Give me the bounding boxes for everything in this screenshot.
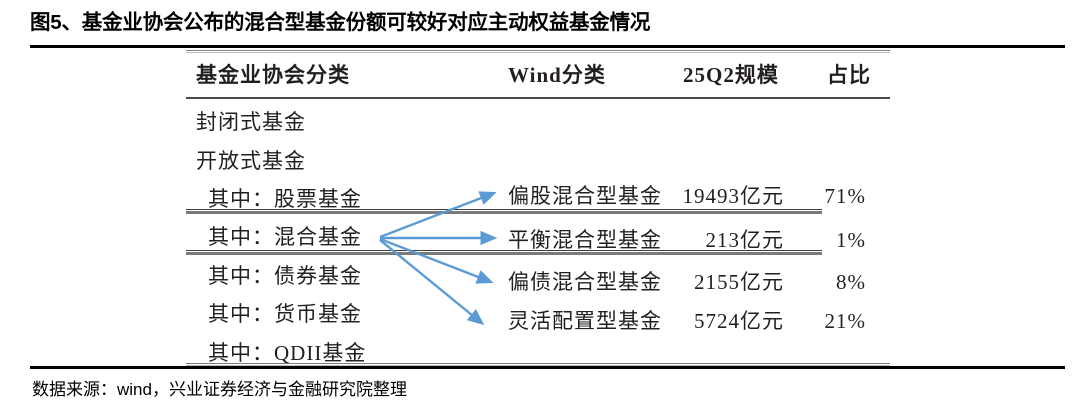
- wind-row-size-1: 213亿元: [626, 226, 784, 254]
- table-row-assoc-1: 开放式基金: [196, 147, 306, 175]
- table-row-assoc-2: 其中：股票基金: [208, 185, 362, 213]
- table-row-assoc-6: 其中：QDII基金: [208, 339, 366, 367]
- source-note: 数据来源：wind，兴业证券经济与金融研究院整理: [32, 378, 407, 402]
- column-header-assoc-class: 基金业协会分类: [196, 61, 350, 89]
- page-title: 图5、基金业协会公布的混合型基金份额可较好对应主动权益基金情况: [30, 8, 1060, 38]
- figure-container: 图5、基金业协会公布的混合型基金份额可较好对应主动权益基金情况 基金业协会分类 …: [0, 0, 1080, 412]
- wind-row-size-0: 19493亿元: [626, 182, 784, 210]
- table-row-assoc-5: 其中：货币基金: [208, 300, 362, 328]
- title-divider: [30, 45, 1065, 48]
- arrow-right-icon-to-偏股混合型基金: [380, 195, 489, 237]
- table-header-divider: [186, 97, 890, 99]
- wind-row-share-1: 1%: [796, 226, 866, 254]
- footer-divider: [30, 366, 1065, 369]
- table-row-assoc-0: 封闭式基金: [196, 108, 306, 136]
- table-row-assoc-4: 其中：债券基金: [208, 262, 362, 290]
- wind-row-share-2: 8%: [796, 268, 866, 296]
- wind-row-size-3: 5724亿元: [626, 307, 784, 335]
- table-top-border-secondary: [186, 52, 890, 53]
- table-row-assoc-3: 其中：混合基金: [208, 223, 362, 251]
- column-header-wind-class: Wind分类: [508, 61, 606, 89]
- column-header-share: 占比: [827, 61, 871, 89]
- arrow-right-icon-to-偏债混合型基金: [380, 239, 486, 280]
- column-header-size: 25Q2规模: [683, 61, 779, 89]
- wind-row-size-2: 2155亿元: [626, 268, 784, 296]
- mapping-table: 基金业协会分类 Wind分类 25Q2规模 占比 封闭式基金 开放式基金 其中：…: [186, 50, 890, 366]
- wind-row-share-0: 71%: [796, 182, 866, 210]
- wind-row-share-3: 21%: [796, 307, 866, 335]
- table-top-border: [186, 50, 890, 51]
